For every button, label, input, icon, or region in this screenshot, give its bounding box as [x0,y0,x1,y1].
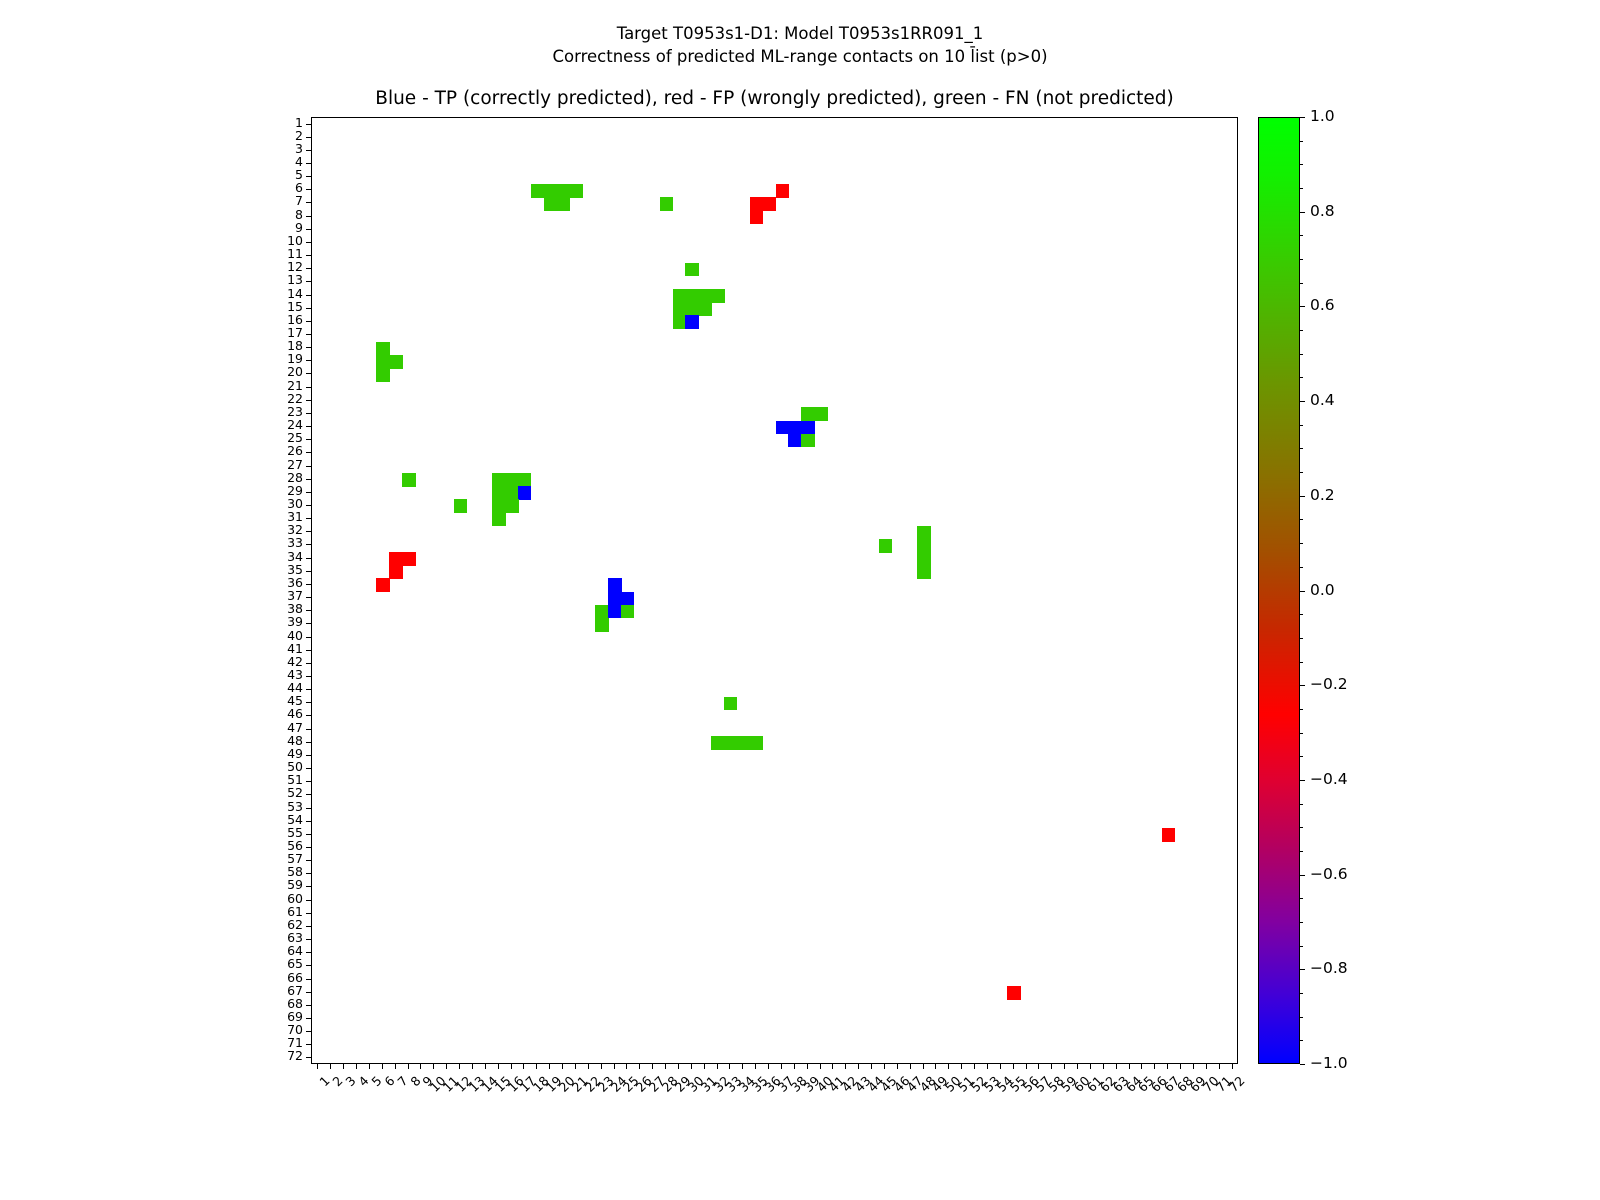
contact-cell [673,315,686,329]
y-axis-tick [306,637,311,638]
contact-cell [505,473,518,487]
y-axis-tick [306,216,311,217]
x-axis-tick [446,1064,447,1069]
contact-cell [402,473,415,487]
y-axis-label: 68 [263,998,303,1010]
x-axis-tick [1051,1064,1052,1069]
contact-cell [518,473,531,487]
y-axis-tick [306,189,311,190]
x-axis-tick [356,1064,357,1069]
y-axis-label: 39 [263,616,303,628]
y-axis-tick [306,939,311,940]
x-axis-tick [1000,1064,1001,1069]
contact-cell [531,184,544,198]
y-axis-tick [306,1031,311,1032]
y-axis-tick [306,860,311,861]
x-axis-tick [948,1064,949,1069]
x-axis-tick [601,1064,602,1069]
colorbar-tick-label: 0.2 [1310,486,1335,504]
colorbar-tick [1300,117,1305,118]
x-axis-tick [974,1064,975,1069]
x-axis-tick [1154,1064,1155,1069]
y-axis-label: 72 [263,1050,303,1062]
y-axis-tick [306,373,311,374]
x-axis-tick [614,1064,615,1069]
contact-cell [801,434,814,448]
y-axis-tick [306,571,311,572]
x-axis-tick [343,1064,344,1069]
y-axis-label: 15 [263,301,303,313]
y-axis-tick [306,781,311,782]
y-axis-label: 7 [263,195,303,207]
colorbar-minor-tick [1300,425,1303,426]
y-axis-tick [306,689,311,690]
y-axis-tick [306,926,311,927]
x-axis-tick [704,1064,705,1069]
contact-cell [376,578,389,592]
contact-map-cells [312,118,1237,1063]
x-axis-tick [742,1064,743,1069]
y-axis-tick [306,623,311,624]
contact-cell [685,289,698,303]
y-axis-tick [306,702,311,703]
contact-cell [570,184,583,198]
contact-cell [698,302,711,316]
contact-cell [505,486,518,500]
y-axis-tick [306,1044,311,1045]
x-axis-tick [807,1064,808,1069]
colorbar[interactable]: 1.00.80.60.40.20.0−0.2−0.4−0.6−0.8−1.0 [1258,117,1300,1064]
x-axis-tick [485,1064,486,1069]
x-axis-tick [652,1064,653,1069]
y-axis-tick [306,308,311,309]
y-axis-tick [306,1018,311,1019]
y-axis-tick [306,281,311,282]
x-axis-tick [408,1064,409,1069]
x-axis-tick [923,1064,924,1069]
colorbar-tick [1300,780,1305,781]
y-axis-tick [306,979,311,980]
contact-cell [544,197,557,211]
colorbar-tick-label: 1.0 [1310,107,1335,125]
x-axis-tick [1064,1064,1065,1069]
y-axis-tick [306,466,311,467]
colorbar-minor-tick [1300,614,1303,615]
y-axis-label: 33 [263,537,303,549]
y-axis-label: 35 [263,564,303,576]
y-axis-tick [306,821,311,822]
contact-cell [724,697,737,711]
colorbar-minor-tick [1300,354,1303,355]
contact-cell [608,578,621,592]
y-axis-label: 1 [263,117,303,129]
colorbar-minor-tick [1300,851,1303,852]
x-axis-tick [369,1064,370,1069]
y-axis-tick [306,992,311,993]
y-axis-tick [306,268,311,269]
y-axis-tick [306,531,311,532]
y-axis-tick [306,610,311,611]
y-axis-label: 28 [263,472,303,484]
colorbar-tick-label: 0.0 [1310,581,1335,599]
contact-cell [492,486,505,500]
y-axis-label: 65 [263,958,303,970]
x-axis-tick [1141,1064,1142,1069]
colorbar-minor-tick [1300,519,1303,520]
colorbar-minor-tick [1300,709,1303,710]
y-axis-tick [306,242,311,243]
contact-cell [557,197,570,211]
colorbar-minor-tick [1300,259,1303,260]
y-axis-tick [306,439,311,440]
contact-cell [454,499,467,513]
x-axis-tick [472,1064,473,1069]
y-axis-label: 47 [263,722,303,734]
contact-cell [492,473,505,487]
y-axis-label: 54 [263,814,303,826]
x-axis-tick [1026,1064,1027,1069]
y-axis-tick [306,518,311,519]
colorbar-minor-tick [1300,946,1303,947]
x-axis-tick [588,1064,589,1069]
colorbar-tick [1300,1064,1305,1065]
y-axis-tick [306,768,311,769]
contact-cell [492,513,505,527]
colorbar-tick [1300,401,1305,402]
y-axis-tick [306,1005,311,1006]
contact-map-plot[interactable] [311,117,1238,1064]
colorbar-tick [1300,875,1305,876]
contact-cell [788,421,801,435]
contact-cell [608,605,621,619]
y-axis-tick [306,886,311,887]
contact-cell [660,197,673,211]
y-axis-tick [306,321,311,322]
colorbar-tick [1300,591,1305,592]
x-axis-tick [523,1064,524,1069]
legend-subtitle: Blue - TP (correctly predicted), red - F… [311,88,1238,109]
contact-cell [608,592,621,606]
y-axis-tick [306,873,311,874]
y-axis-label: 67 [263,985,303,997]
colorbar-tick-label: 0.4 [1310,391,1335,409]
colorbar-minor-tick [1300,567,1303,568]
colorbar-tick [1300,496,1305,497]
x-axis-tick [575,1064,576,1069]
x-axis-tick [498,1064,499,1069]
title-line-1: Target T0953s1-D1: Model T0953s1RR091_1 [0,22,1600,45]
y-axis-tick [306,742,311,743]
y-axis-label: 14 [263,288,303,300]
y-axis-label: 22 [263,393,303,405]
y-axis-label: 2 [263,130,303,142]
contact-cell [402,552,415,566]
contact-cell [557,184,570,198]
x-axis-tick [1206,1064,1207,1069]
contact-cell [917,526,930,540]
x-axis-tick [1232,1064,1233,1069]
x-axis-tick [562,1064,563,1069]
contact-cell [750,197,763,211]
y-axis-label: 40 [263,630,303,642]
y-axis-label: 27 [263,459,303,471]
x-axis-tick [832,1064,833,1069]
y-axis-tick [306,729,311,730]
y-axis-label: 8 [263,209,303,221]
y-axis-label: 20 [263,366,303,378]
contact-cell [389,355,402,369]
x-axis-tick [871,1064,872,1069]
x-axis-tick [910,1064,911,1069]
y-axis-tick [306,163,311,164]
x-axis-tick [678,1064,679,1069]
colorbar-minor-tick [1300,330,1303,331]
colorbar-minor-tick [1300,164,1303,165]
x-axis-tick [858,1064,859,1069]
y-axis-tick [306,360,311,361]
x-axis-tick [1090,1064,1091,1069]
y-axis-tick [306,558,311,559]
x-axis-tick [1219,1064,1220,1069]
contact-cell [711,736,724,750]
contact-cell [917,539,930,553]
x-axis-tick [1167,1064,1168,1069]
contact-cell [1007,986,1020,1000]
x-axis-tick [549,1064,550,1069]
contact-cell [376,368,389,382]
y-axis-tick [306,492,311,493]
contact-cell [711,289,724,303]
y-axis-tick [306,426,311,427]
colorbar-minor-tick [1300,756,1303,757]
y-axis-label: 66 [263,972,303,984]
x-axis-tick [1038,1064,1039,1069]
colorbar-minor-tick [1300,188,1303,189]
y-axis-tick [306,229,311,230]
x-axis-tick [330,1064,331,1069]
y-axis-tick [306,295,311,296]
colorbar-minor-tick [1300,638,1303,639]
contact-cell [544,184,557,198]
y-axis-tick [306,124,311,125]
x-axis-tick [717,1064,718,1069]
x-axis-tick [1077,1064,1078,1069]
y-axis-tick [306,913,311,914]
x-axis-tick [884,1064,885,1069]
colorbar-minor-tick [1300,141,1303,142]
colorbar-minor-tick [1300,1017,1303,1018]
y-axis-tick [306,952,311,953]
x-axis-tick [961,1064,962,1069]
contact-cell [389,565,402,579]
colorbar-minor-tick [1300,283,1303,284]
colorbar-minor-tick [1300,1040,1303,1041]
contact-cell [376,342,389,356]
x-axis-tick [845,1064,846,1069]
colorbar-minor-tick [1300,804,1303,805]
y-axis-tick [306,965,311,966]
colorbar-minor-tick [1300,827,1303,828]
y-axis-tick [306,479,311,480]
x-axis-tick [820,1064,821,1069]
contact-cell [621,605,634,619]
colorbar-minor-tick [1300,733,1303,734]
x-axis-tick [433,1064,434,1069]
colorbar-tick-label: 0.8 [1310,202,1335,220]
contact-cell [750,210,763,224]
y-axis-tick [306,413,311,414]
y-axis-tick [306,137,311,138]
colorbar-minor-tick [1300,377,1303,378]
x-axis-tick [626,1064,627,1069]
colorbar-minor-tick [1300,898,1303,899]
contact-cell [595,618,608,632]
y-axis-tick [306,755,311,756]
colorbar-minor-tick [1300,993,1303,994]
contact-cell [917,565,930,579]
y-axis-label: 46 [263,708,303,720]
x-axis-tick [1116,1064,1117,1069]
x-axis-tick [420,1064,421,1069]
y-axis-label: 26 [263,445,303,457]
colorbar-gradient [1258,117,1300,1064]
x-axis-tick [395,1064,396,1069]
y-axis-tick [306,794,311,795]
y-axis-label: 60 [263,893,303,905]
contact-cell [621,592,634,606]
x-axis-tick [665,1064,666,1069]
y-axis-tick [306,715,311,716]
colorbar-tick-label: −0.8 [1310,959,1348,977]
x-axis-tick [1129,1064,1130,1069]
x-axis-tick [536,1064,537,1069]
y-axis-tick [306,452,311,453]
colorbar-tick-label: −1.0 [1310,1054,1348,1072]
x-axis-tick [382,1064,383,1069]
y-axis-tick [306,597,311,598]
x-axis-tick [729,1064,730,1069]
y-axis-tick [306,584,311,585]
y-axis-tick [306,847,311,848]
contact-cell [376,355,389,369]
y-axis-tick [306,202,311,203]
colorbar-tick [1300,306,1305,307]
y-axis-tick [306,505,311,506]
contact-cell [879,539,892,553]
y-axis-tick [306,176,311,177]
y-axis-tick [306,663,311,664]
colorbar-minor-tick [1300,472,1303,473]
y-axis-tick [306,387,311,388]
contact-cell [724,736,737,750]
colorbar-tick-label: −0.2 [1310,675,1348,693]
colorbar-tick [1300,685,1305,686]
colorbar-minor-tick [1300,235,1303,236]
y-axis-tick [306,255,311,256]
y-axis-label: 53 [263,801,303,813]
y-axis-tick [306,400,311,401]
contact-cell [685,263,698,277]
colorbar-tick-label: −0.6 [1310,865,1348,883]
y-axis-tick [306,676,311,677]
x-axis-tick [987,1064,988,1069]
x-axis-tick [794,1064,795,1069]
x-axis-tick [755,1064,756,1069]
x-axis-tick [1103,1064,1104,1069]
colorbar-tick [1300,969,1305,970]
y-axis-label: 61 [263,906,303,918]
y-axis-label: 48 [263,735,303,747]
y-axis-tick [306,1057,311,1058]
colorbar-minor-tick [1300,543,1303,544]
y-axis-label: 21 [263,380,303,392]
y-axis-tick [306,334,311,335]
contact-cell [518,486,531,500]
x-axis-tick [897,1064,898,1069]
y-axis-tick [306,808,311,809]
contact-cell [505,499,518,513]
contact-cell [492,499,505,513]
y-axis-tick [306,834,311,835]
x-axis-tick [1193,1064,1194,1069]
y-axis-tick [306,347,311,348]
colorbar-minor-tick [1300,448,1303,449]
contact-cell [685,315,698,329]
x-axis-tick [317,1064,318,1069]
contact-cell [685,302,698,316]
y-axis-tick [306,544,311,545]
contact-cell [801,421,814,435]
figure-title-block: Target T0953s1-D1: Model T0953s1RR091_1 … [0,22,1600,69]
contact-cell [814,407,827,421]
contact-cell [763,197,776,211]
x-axis-tick [781,1064,782,1069]
contact-cell [673,302,686,316]
colorbar-tick-label: −0.4 [1310,770,1348,788]
x-axis-tick [935,1064,936,1069]
contact-cell [776,421,789,435]
title-line-2: Correctness of predicted ML-range contac… [0,45,1600,68]
x-axis-tick [1013,1064,1014,1069]
y-axis-label: 55 [263,827,303,839]
x-axis-tick [639,1064,640,1069]
colorbar-tick [1300,212,1305,213]
contact-cell [673,289,686,303]
x-axis-tick [1180,1064,1181,1069]
contact-cell [776,184,789,198]
y-axis-label: 13 [263,274,303,286]
x-axis-tick [511,1064,512,1069]
contact-cell [788,434,801,448]
contact-cell [698,289,711,303]
colorbar-minor-tick [1300,662,1303,663]
colorbar-minor-tick [1300,922,1303,923]
contact-cell [737,736,750,750]
y-axis-label: 41 [263,643,303,655]
contact-cell [917,552,930,566]
y-axis-label: 9 [263,222,303,234]
y-axis-label: 34 [263,551,303,563]
y-axis-label: 52 [263,787,303,799]
y-axis-tick [306,900,311,901]
y-axis-label: 59 [263,879,303,891]
x-axis-tick [691,1064,692,1069]
contact-cell [389,552,402,566]
y-axis-tick [306,150,311,151]
contact-cell [595,605,608,619]
x-axis-tick [459,1064,460,1069]
x-axis-tick [768,1064,769,1069]
